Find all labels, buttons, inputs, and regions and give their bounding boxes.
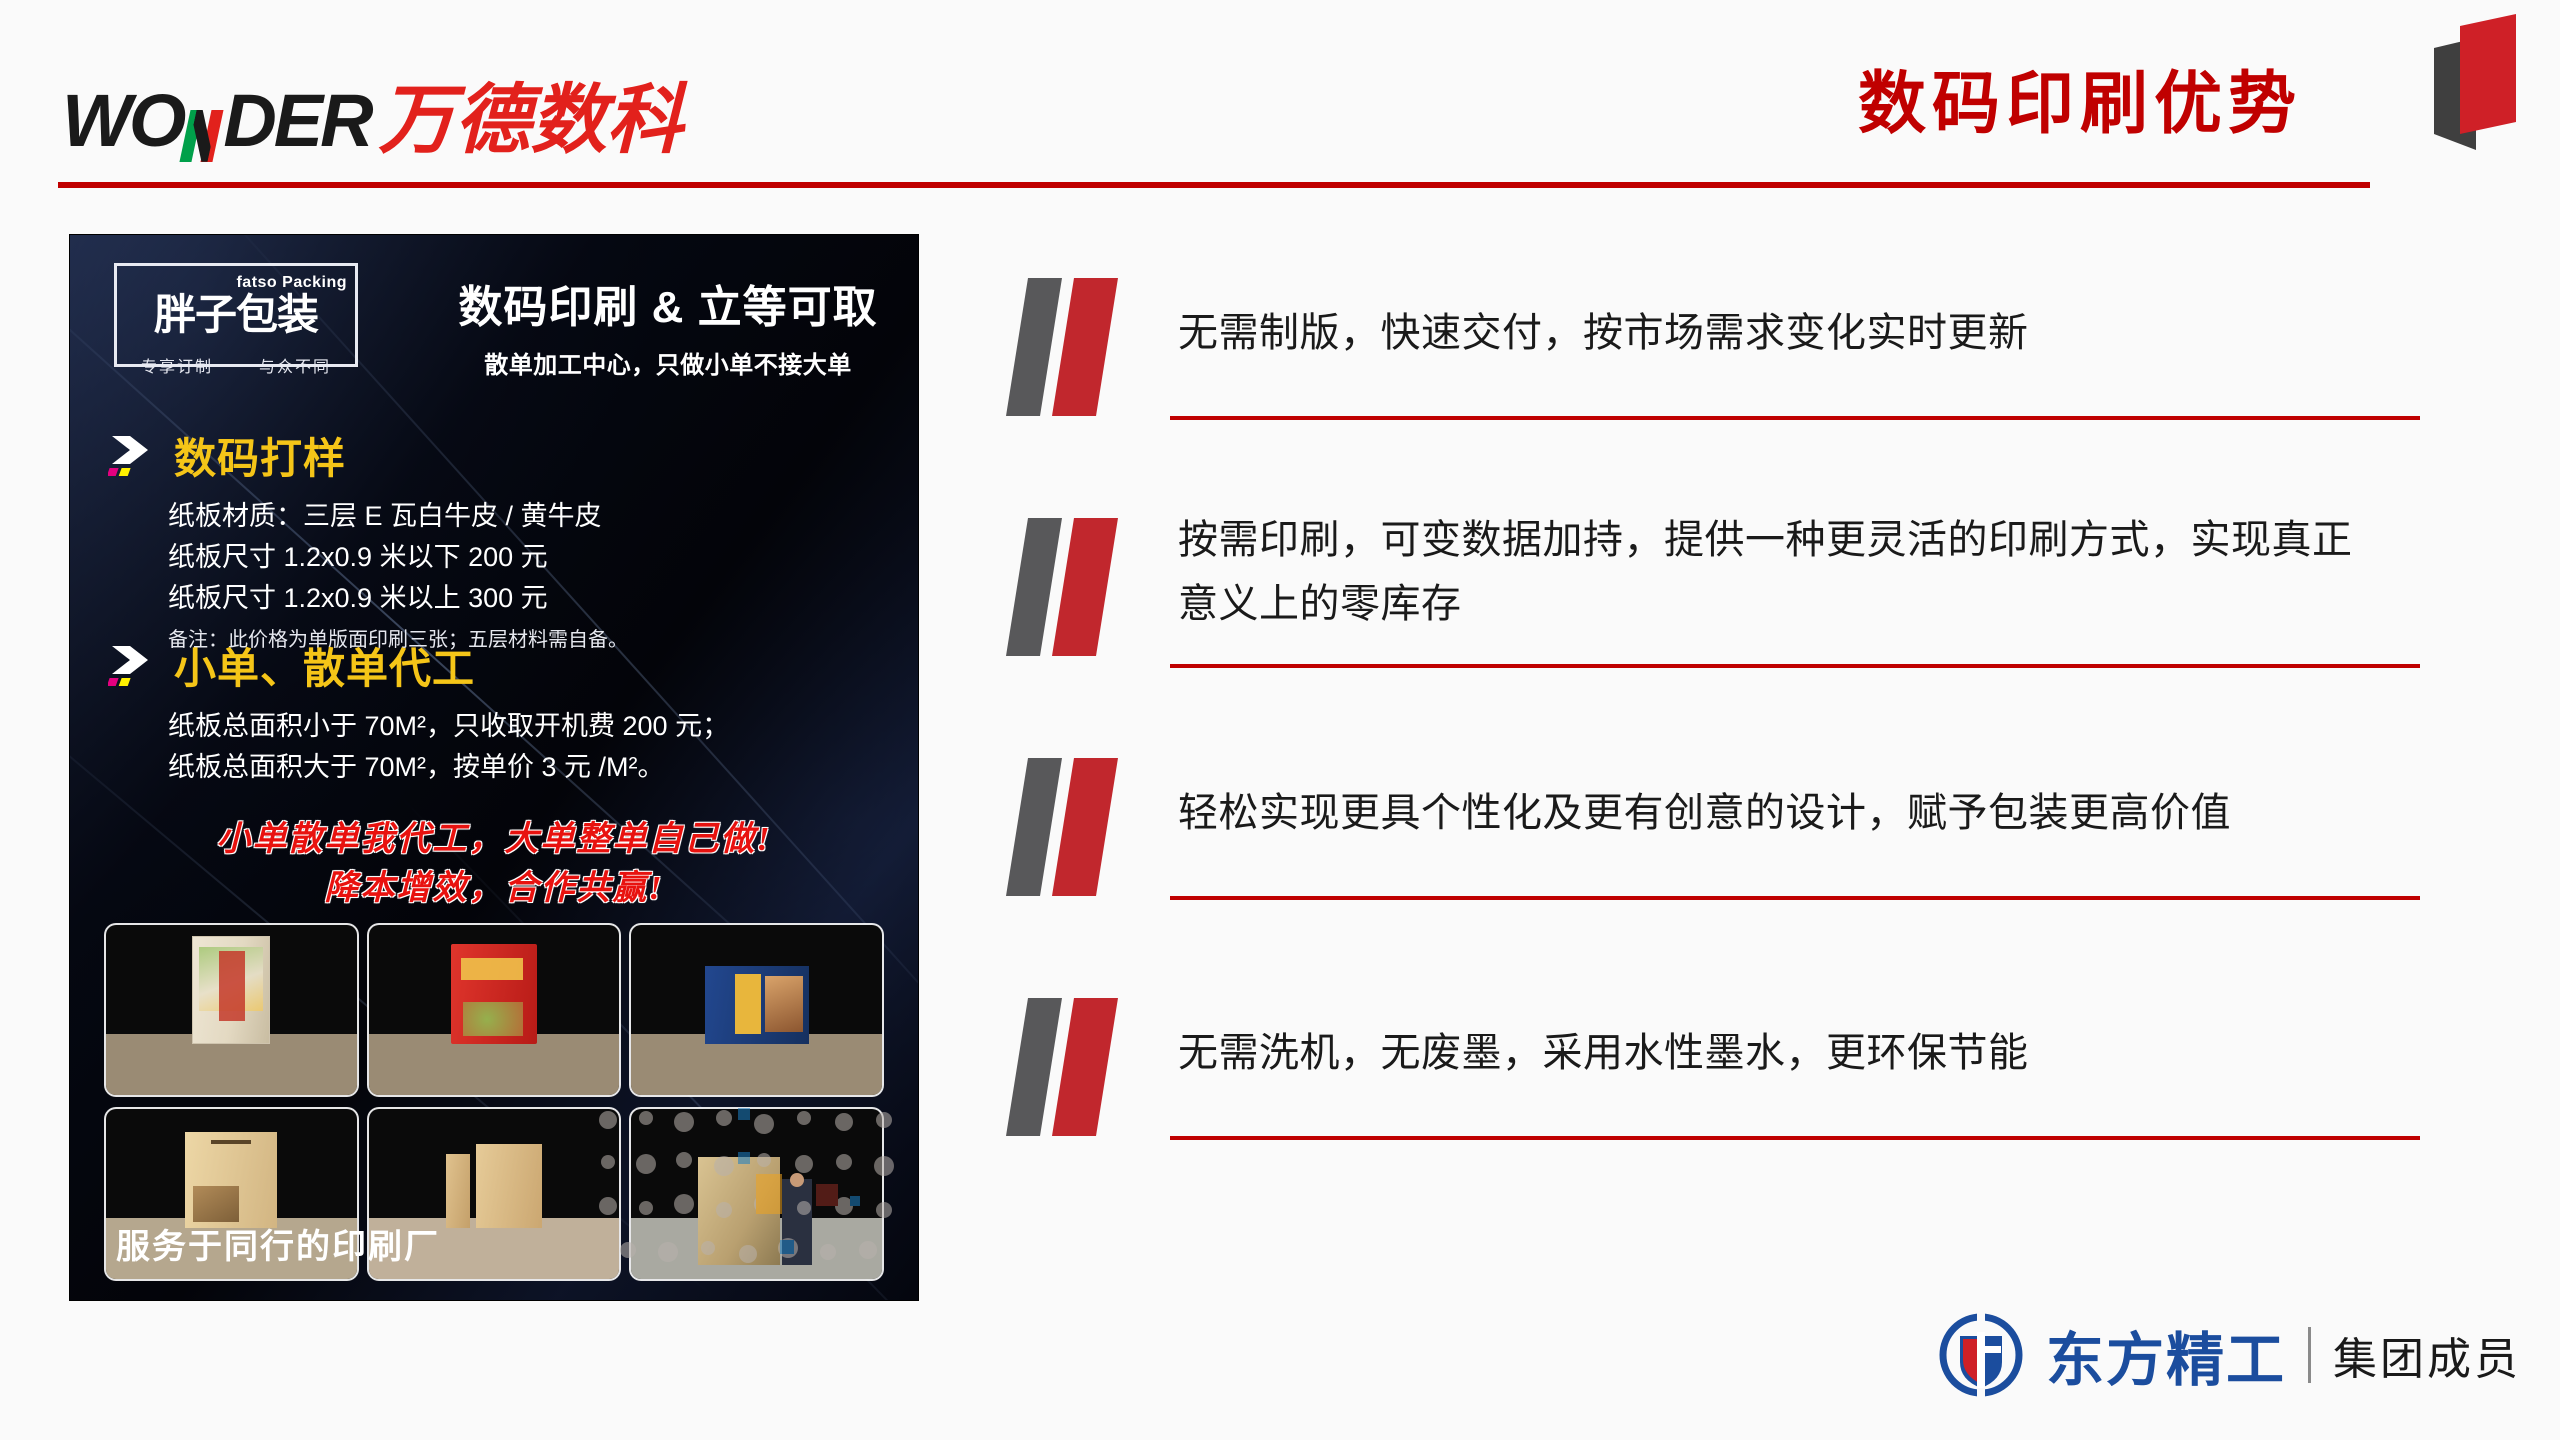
advantage-item[interactable]: 无需洗机，无废墨，采用水性墨水，更环保节能 <box>1000 978 2360 1218</box>
slide-root: WO DER 万德数科 数码印刷优势 胖子包装 fatso Packing 专享… <box>0 0 2560 1440</box>
product-photo <box>106 925 357 1095</box>
advantage-underline <box>1170 896 2420 900</box>
advantage-underline <box>1170 664 2420 668</box>
advantage-underline <box>1170 416 2420 420</box>
brand-en-part1: WO <box>62 78 183 163</box>
advantage-item[interactable]: 无需制版，快速交付，按市场需求变化实时更新 <box>1000 258 2360 498</box>
advantage-item[interactable]: 轻松实现更具个性化及更有创意的设计，赋予包装更高价值 <box>1000 738 2360 978</box>
section-1-line-2: 纸板尺寸 1.2x0.9 米以下 200 元 <box>168 537 628 578</box>
advantage-text-wrap: 轻松实现更具个性化及更有创意的设计，赋予包装更高价值 <box>1178 738 2360 888</box>
page-title: 数码印刷优势 <box>1858 48 2302 147</box>
brand-cn-name: 万德数科 <box>379 58 683 168</box>
fatso-tagline-right: 与众不同 <box>259 353 331 377</box>
dongfang-circle-logo-icon <box>1938 1312 2024 1398</box>
group-member-label: 集团成员 <box>2333 1323 2521 1387</box>
fatso-logo-en: fatso Packing <box>236 274 347 292</box>
section-2-lines: 纸板总面积小于 70M²，只收取开机费 200 元； 纸板总面积大于 70M²，… <box>168 706 729 788</box>
advantage-text-wrap: 无需洗机，无废墨，采用水性墨水，更环保节能 <box>1178 978 2360 1128</box>
group-company-name: 东方精工 <box>2046 1313 2286 1397</box>
poster-subheadline: 散单加工中心，只做小单不接大单 <box>448 345 888 380</box>
double-slash-marker-icon <box>1000 752 1180 902</box>
advantage-item[interactable]: 按需印刷，可变数据加持，提供一种更灵活的印刷方式，实现真正意义上的零库存 <box>1000 498 2360 738</box>
group-member-logo: 东方精工 集团成员 <box>1938 1312 2521 1398</box>
fatso-logo-taglines: 专享订制 与众不同 <box>118 353 354 377</box>
wonder-brand-logo: WO DER 万德数科 <box>62 58 683 168</box>
advantage-text: 轻松实现更具个性化及更有创意的设计，赋予包装更高价值 <box>1178 781 2231 845</box>
header-divider <box>58 182 2370 188</box>
advantage-text-wrap: 按需印刷，可变数据加持，提供一种更灵活的印刷方式，实现真正意义上的零库存 <box>1178 482 2360 662</box>
poster-slogan-line-1: 小单散单我代工，大单整单自己做! <box>70 815 918 864</box>
fatso-packing-logo: 胖子包装 fatso Packing <box>114 263 358 367</box>
section-1-line-3: 纸板尺寸 1.2x0.9 米以上 300 元 <box>168 578 628 619</box>
product-photo <box>631 925 882 1095</box>
section-1-lines: 纸板材质：三层 E 瓦白牛皮 / 黄牛皮 纸板尺寸 1.2x0.9 米以下 20… <box>168 496 628 652</box>
halftone-dots-decoration <box>588 1100 918 1300</box>
parallelogram-mark-icon <box>2410 10 2530 160</box>
advantage-underline <box>1170 1136 2420 1140</box>
poster-slogan: 小单散单我代工，大单整单自己做! 降本增效，合作共赢! <box>70 815 918 914</box>
advantage-text: 无需制版，快速交付，按市场需求变化实时更新 <box>1178 301 2029 365</box>
advantage-text: 按需印刷，可变数据加持，提供一种更灵活的印刷方式，实现真正意义上的零库存 <box>1178 508 2360 636</box>
double-slash-marker-icon <box>1000 272 1180 422</box>
chevron-arrow-icon <box>108 434 160 478</box>
brand-en-part2: DER <box>223 78 370 163</box>
chevron-arrow-icon <box>108 644 160 688</box>
product-photo <box>369 925 620 1095</box>
section-title-1: 数码打样 <box>174 425 346 486</box>
fatso-tagline-left: 专享订制 <box>141 353 213 377</box>
advantage-text-wrap: 无需制版，快速交付，按市场需求变化实时更新 <box>1178 258 2360 408</box>
footer-divider <box>2308 1327 2311 1383</box>
fatso-logo-main: 胖子包装 <box>154 294 318 336</box>
section-2-line-2: 纸板总面积大于 70M²，按单价 3 元 /M²。 <box>168 747 729 788</box>
section-2-line-1: 纸板总面积小于 70M²，只收取开机费 200 元； <box>168 706 729 747</box>
section-title-2: 小单、散单代工 <box>174 635 475 696</box>
poster-section-small-order: 小单、散单代工 纸板总面积小于 70M²，只收取开机费 200 元； 纸板总面积… <box>108 635 729 788</box>
poster-footer-text: 服务于同行的印刷厂 <box>116 1219 440 1268</box>
poster-headline-block: 数码印刷 & 立等可取 散单加工中心，只做小单不接大单 <box>448 271 888 380</box>
double-slash-marker-icon <box>1000 992 1180 1142</box>
poster-slogan-line-2: 降本增效，合作共赢! <box>70 864 918 913</box>
brand-en-n <box>183 78 223 163</box>
poster-section-digital-proofing: 数码打样 纸板材质：三层 E 瓦白牛皮 / 黄牛皮 纸板尺寸 1.2x0.9 米… <box>108 425 628 652</box>
double-slash-marker-icon <box>1000 512 1180 662</box>
section-1-line-1: 纸板材质：三层 E 瓦白牛皮 / 黄牛皮 <box>168 496 628 537</box>
advantages-list: 无需制版，快速交付，按市场需求变化实时更新 按需印刷，可变数据加持，提供一种更灵… <box>1000 258 2360 1218</box>
promo-poster-image: 胖子包装 fatso Packing 专享订制 与众不同 数码印刷 & 立等可取… <box>70 235 918 1300</box>
advantage-text: 无需洗机，无废墨，采用水性墨水，更环保节能 <box>1178 1021 2029 1085</box>
poster-headline: 数码印刷 & 立等可取 <box>448 271 888 335</box>
